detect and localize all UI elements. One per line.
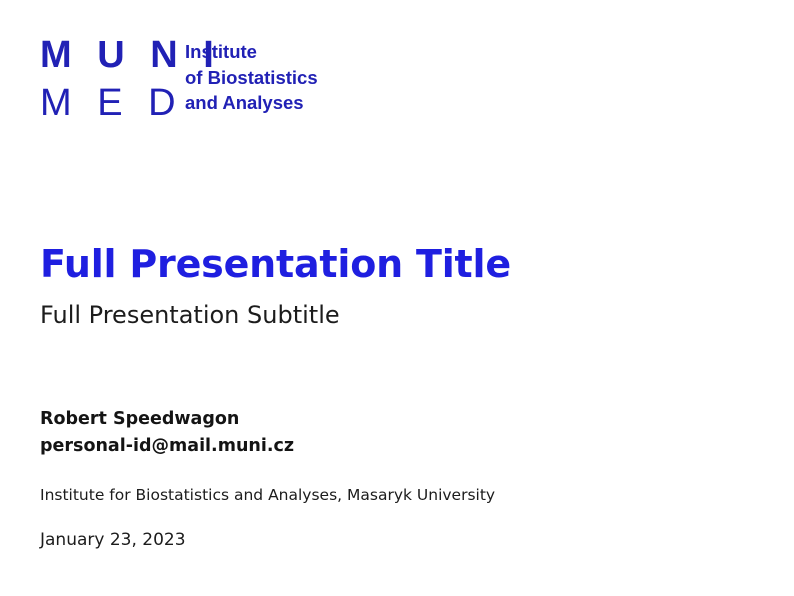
author-name: Robert Speedwagon (40, 406, 740, 433)
logo-med-text: M E D (40, 84, 152, 122)
logo-faculty-line-3: and Analyses (185, 90, 318, 116)
logo-faculty-line-2: of Biostatistics (185, 65, 318, 91)
author-block: Robert Speedwagon personal-id@mail.muni.… (40, 406, 740, 551)
logo-muni-text: M U N I (40, 36, 152, 74)
author-email: personal-id@mail.muni.cz (40, 433, 740, 460)
title-block: Full Presentation Title Full Presentatio… (40, 243, 740, 330)
muni-logo-mark: M U N I M E D (40, 36, 152, 122)
logo-faculty-line-1: Institute (185, 39, 318, 65)
muni-med-logo: M U N I M E D Institute of Biostatistics… (40, 36, 318, 122)
presentation-date: January 23, 2023 (40, 529, 740, 551)
presentation-title: Full Presentation Title (40, 243, 740, 286)
author-affiliation: Institute for Biostatistics and Analyses… (40, 485, 740, 505)
title-slide: M U N I M E D Institute of Biostatistics… (0, 0, 794, 596)
presentation-subtitle: Full Presentation Subtitle (40, 300, 740, 330)
logo-faculty-name: Institute of Biostatistics and Analyses (185, 39, 318, 116)
